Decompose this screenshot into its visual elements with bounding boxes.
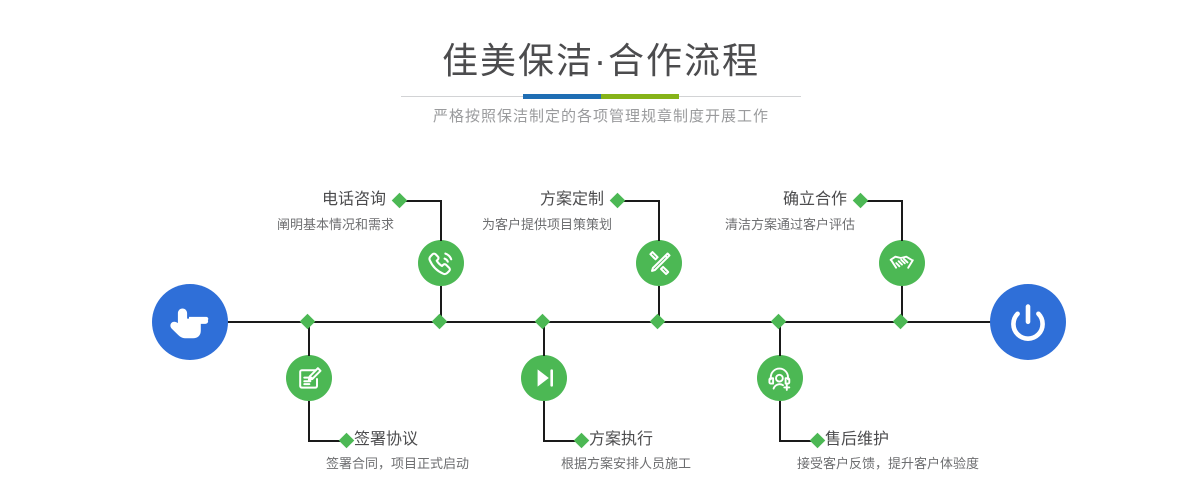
step-4-description: 根据方案安排人员施工 — [561, 455, 821, 473]
step-5-node-icon-circle[interactable] — [879, 240, 925, 286]
step-3-node-icon-circle[interactable] — [636, 240, 682, 286]
step-5-axis-diamond — [893, 314, 909, 330]
step-2-label-vline — [308, 401, 310, 441]
step-1-title: 电话咨询 — [206, 190, 386, 210]
step-6-label-diamond — [810, 433, 826, 449]
step-2-title: 签署协议 — [354, 430, 554, 450]
step-3-axis-diamond — [650, 314, 666, 330]
step-1-description: 阐明基本情况和需求 — [176, 216, 394, 234]
step-3-label-diamond — [610, 193, 626, 209]
title-divider — [401, 94, 801, 100]
step-4-label-vline — [543, 401, 545, 441]
divider-segment-blue — [523, 94, 601, 99]
step-4-title: 方案执行 — [589, 430, 789, 450]
step-6-node-icon-circle[interactable] — [757, 355, 803, 401]
divider-segment-green — [601, 94, 679, 99]
step-5-label-vline — [901, 200, 903, 241]
step-3-title: 方案定制 — [424, 190, 604, 210]
step-2-node-icon-circle[interactable] — [286, 355, 332, 401]
step-1-node-icon-circle[interactable] — [418, 240, 464, 286]
step-2-label-diamond — [339, 433, 355, 449]
step-2-description: 签署合同，项目正式启动 — [326, 455, 586, 473]
timeline-start-endpoint — [152, 284, 228, 360]
page-subtitle: 严格按照保洁制定的各项管理规章制度开展工作 — [0, 106, 1202, 128]
process-flow-infographic: 佳美保洁·合作流程 严格按照保洁制定的各项管理规章制度开展工作 — [0, 0, 1202, 502]
step-5-title: 确立合作 — [667, 190, 847, 210]
step-6-title: 售后维护 — [825, 430, 1045, 450]
timeline-end-endpoint — [990, 284, 1066, 360]
step-6-axis-diamond — [771, 314, 787, 330]
step-5-description: 清洁方案通过客户评估 — [637, 216, 855, 234]
step-3-description: 为客户提供项目策策划 — [394, 216, 612, 234]
step-6-label-vline — [779, 401, 781, 441]
page-title: 佳美保洁·合作流程 — [0, 38, 1202, 84]
step-4-label-diamond — [574, 433, 590, 449]
step-4-axis-diamond — [535, 314, 551, 330]
step-4-node-icon-circle[interactable] — [521, 355, 567, 401]
step-2-axis-diamond — [300, 314, 316, 330]
step-1-axis-diamond — [432, 314, 448, 330]
step-5-label-diamond — [853, 193, 869, 209]
step-6-description: 接受客户反馈，提升客户体验度 — [797, 455, 1087, 473]
step-1-label-diamond — [392, 193, 408, 209]
